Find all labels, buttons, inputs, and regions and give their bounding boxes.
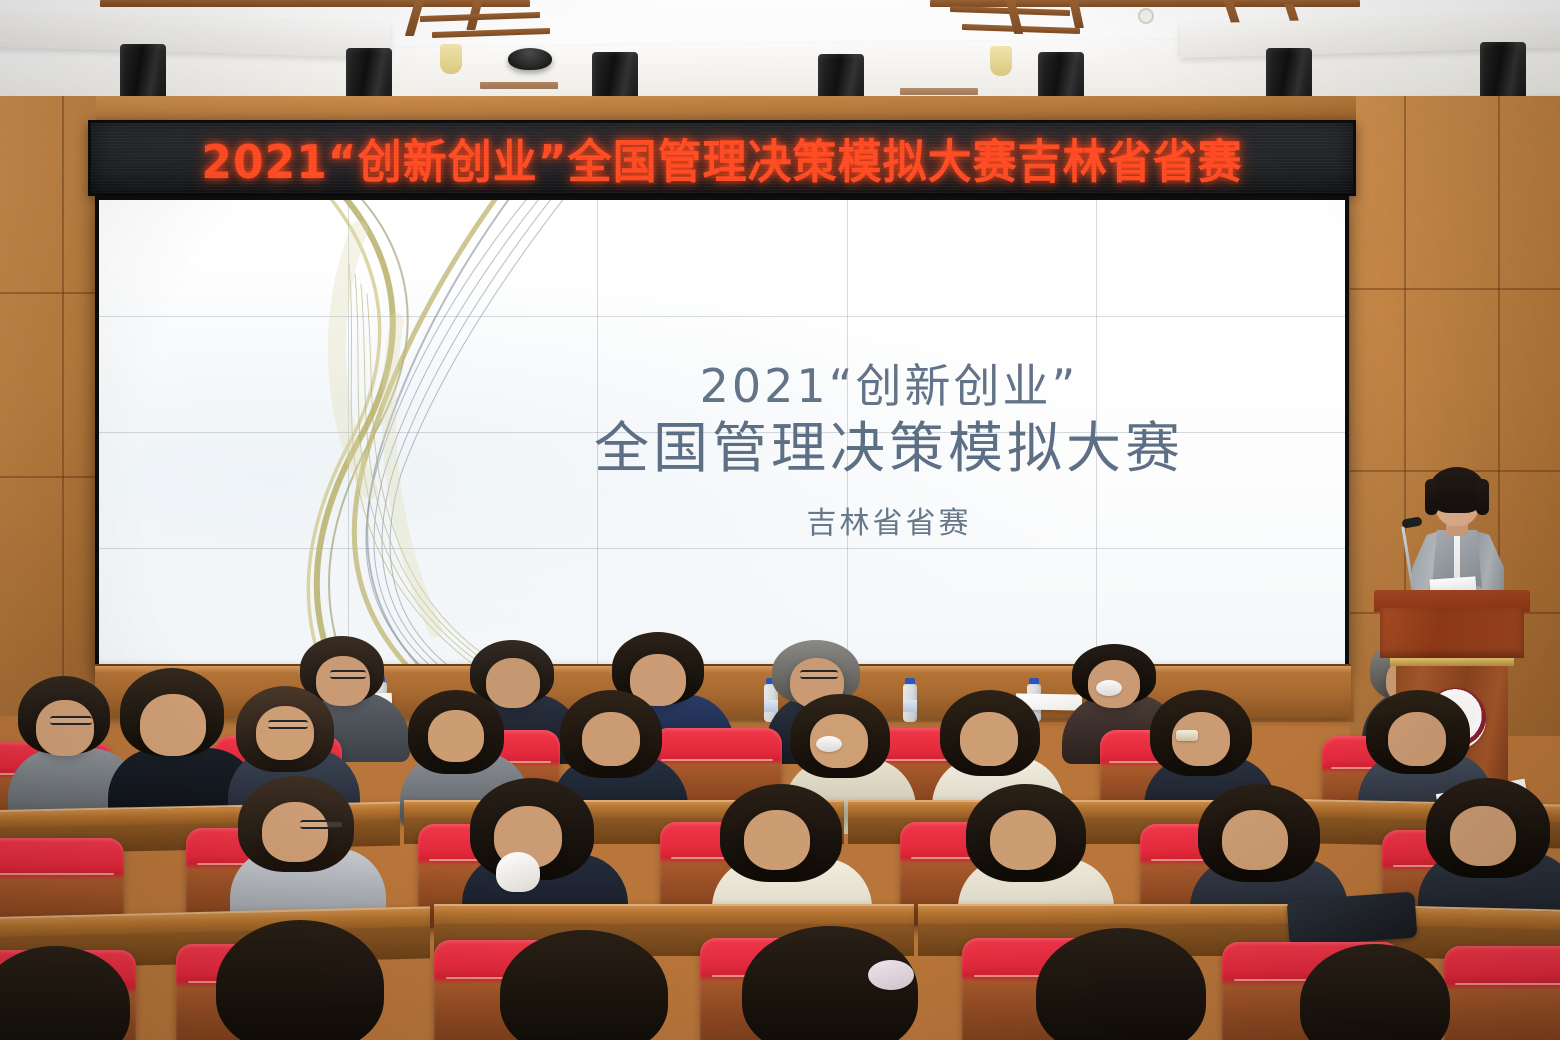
ceiling-beam bbox=[100, 0, 530, 7]
attendee-head bbox=[256, 706, 314, 760]
ceiling-beam bbox=[480, 82, 558, 89]
microphone-icon bbox=[1401, 527, 1415, 595]
hair-accessory bbox=[1096, 680, 1122, 696]
attendee-head bbox=[960, 712, 1018, 766]
backpack bbox=[1287, 892, 1418, 947]
video-wall-screen: 2021“创新创业” 全国管理决策模拟大赛 吉林省省赛 bbox=[99, 200, 1345, 664]
ceiling-vent-icon bbox=[1138, 8, 1154, 24]
attendee-head bbox=[36, 700, 94, 756]
ceiling-beam bbox=[930, 0, 1360, 7]
eyeglasses-icon bbox=[50, 716, 92, 725]
attendee-head bbox=[262, 802, 328, 862]
auditorium-seat bbox=[1444, 946, 1560, 1040]
hair-accessory bbox=[816, 736, 842, 752]
pendant-light-icon bbox=[990, 46, 1012, 76]
microphone-head-icon bbox=[1401, 516, 1422, 528]
attendee-head bbox=[428, 710, 484, 762]
attendee-head bbox=[486, 658, 540, 708]
hair-accessory bbox=[868, 960, 914, 990]
eyeglasses-icon bbox=[330, 670, 366, 679]
hair-accessory bbox=[1176, 730, 1198, 741]
pendant-light-icon bbox=[440, 44, 462, 74]
wall-left bbox=[0, 96, 100, 716]
screen-title-line2: 全国管理决策模拟大赛 bbox=[519, 415, 1259, 482]
video-wall-frame: 2021“创新创业” 全国管理决策模拟大赛 吉林省省赛 bbox=[95, 196, 1349, 668]
ceiling-beam bbox=[900, 88, 978, 95]
water-bottle-icon bbox=[903, 678, 917, 722]
attendee-head bbox=[582, 712, 640, 766]
attendee-head bbox=[1450, 806, 1516, 866]
attendee-head bbox=[744, 810, 810, 870]
screen-title-block: 2021“创新创业” 全国管理决策模拟大赛 吉林省省赛 bbox=[519, 360, 1259, 542]
ceiling-speaker-icon bbox=[508, 48, 552, 70]
attendee-head bbox=[990, 810, 1056, 870]
screen-title-line1: 2021“创新创业” bbox=[519, 360, 1259, 413]
auditorium-scene: 2021“创新创业”全国管理决策模拟大赛吉林省省赛 bbox=[0, 0, 1560, 1040]
attendee-hair bbox=[216, 920, 384, 1040]
podium-trim bbox=[1390, 658, 1514, 666]
attendee-head bbox=[1388, 712, 1446, 766]
hair-accessory bbox=[496, 852, 540, 892]
attendee-head bbox=[140, 694, 206, 756]
wall-above-banner bbox=[96, 96, 1356, 122]
eyeglasses-icon bbox=[300, 820, 342, 829]
led-banner: 2021“创新创业”全国管理决策模拟大赛吉林省省赛 bbox=[88, 120, 1356, 196]
screen-subtitle: 吉林省省赛 bbox=[519, 498, 1259, 542]
attendee-head bbox=[1222, 810, 1288, 870]
podium-front-panel bbox=[1380, 608, 1524, 658]
eyeglasses-icon bbox=[268, 720, 308, 729]
led-banner-text: 2021“创新创业”全国管理决策模拟大赛吉林省省赛 bbox=[201, 124, 1242, 192]
eyeglasses-icon bbox=[800, 670, 838, 679]
attendee-head bbox=[316, 656, 370, 706]
